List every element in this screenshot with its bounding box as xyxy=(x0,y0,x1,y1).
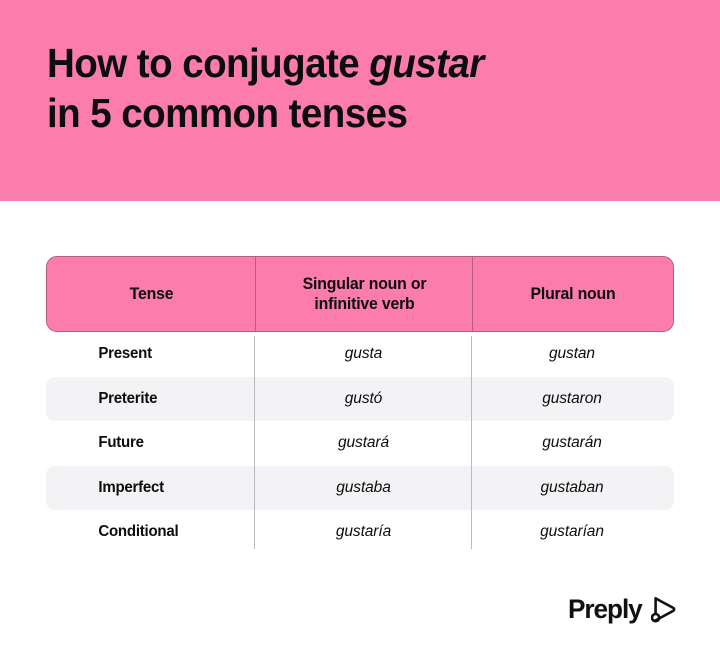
preply-logo: Preply xyxy=(568,596,677,623)
page-title-emphasis-word: gustar xyxy=(369,40,483,86)
table-row: Conditional gustaría gustarían xyxy=(46,510,674,555)
cell-singular: gustará xyxy=(255,434,472,452)
cell-tense: Conditional xyxy=(46,523,249,541)
table-header-row: Tense Singular noun or infinitive verb P… xyxy=(46,256,674,332)
cell-plural: gustan xyxy=(472,345,672,363)
cell-plural: gustaban xyxy=(472,479,672,497)
body-divider-2 xyxy=(471,336,472,549)
table-row: Present gusta gustan xyxy=(46,332,674,377)
cell-plural: gustarían xyxy=(472,523,672,541)
cell-singular: gusta xyxy=(255,345,472,363)
body-divider-1 xyxy=(254,336,255,549)
header-divider-2 xyxy=(472,257,473,331)
preply-speech-arrow-icon xyxy=(651,596,677,623)
cell-tense: Present xyxy=(46,345,249,363)
table-row: Imperfect gustaba gustaban xyxy=(46,466,674,511)
cell-tense: Preterite xyxy=(46,390,249,408)
column-header-tense: Tense xyxy=(51,257,252,331)
cell-tense: Imperfect xyxy=(46,479,249,497)
page-title-line1-prefix: How to conjugate xyxy=(47,40,369,86)
table-row: Future gustará gustarán xyxy=(46,421,674,466)
column-header-singular: Singular noun or infinitive verb xyxy=(260,257,468,331)
conjugation-table: Tense Singular noun or infinitive verb P… xyxy=(46,256,674,555)
cell-singular: gustaba xyxy=(255,479,472,497)
column-header-plural: Plural noun xyxy=(477,257,669,331)
preply-wordmark: Preply xyxy=(568,596,642,623)
cell-plural: gustarán xyxy=(472,434,672,452)
header-divider-1 xyxy=(255,257,256,331)
table-body: Present gusta gustan Preterite gustó gus… xyxy=(46,332,674,555)
page-title-line2: in 5 common tenses xyxy=(47,90,407,136)
cell-singular: gustaría xyxy=(255,523,472,541)
cell-singular: gustó xyxy=(255,390,472,408)
header-banner: How to conjugate gustarin 5 common tense… xyxy=(0,0,720,201)
page-title: How to conjugate gustarin 5 common tense… xyxy=(47,38,649,139)
cell-plural: gustaron xyxy=(472,390,672,408)
cell-tense: Future xyxy=(46,434,249,452)
table-row: Preterite gustó gustaron xyxy=(46,377,674,422)
